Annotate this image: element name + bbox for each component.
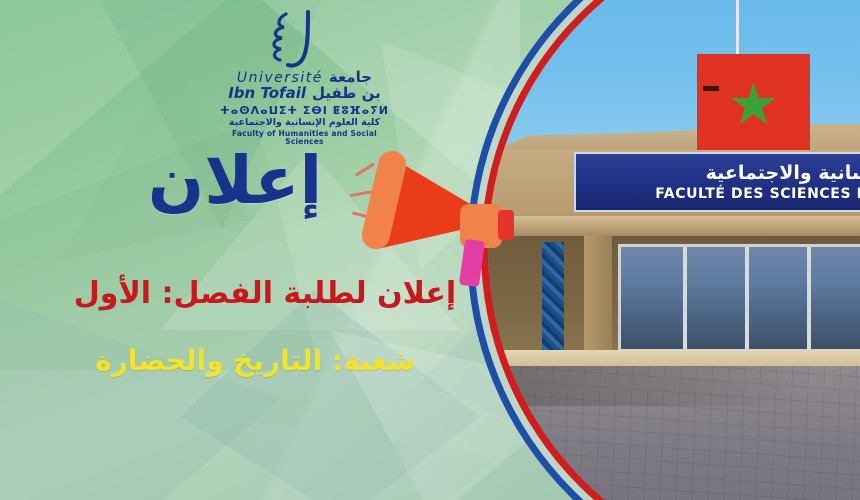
logo-arabic-faculty: كلية العلوم الإنسانية والاجتماعية [212,118,397,128]
megaphone-cap [498,210,514,240]
signboard-french-text: FACULTÉ DES SCIENCES HUMAINES ET SOCIALE… [655,186,860,202]
door-mullion [745,247,749,349]
signboard-arabic-text: كلية العلوم الإنسانية والاجتماعية [706,162,860,184]
logo-tifinagh-text: ⵜⴰⵙⴷⴰⵡⵉⵜ ⵉⴱⵏ ⵟⵓⴼⴰⵢⵍ [212,105,397,117]
logo-arabic-name: بن طفيل [312,86,381,102]
building-signboard: كلية العلوم الإنسانية والاجتماعية FACULT… [574,152,860,212]
entrance-glass-doors [618,244,860,352]
logo-calligraphy-icon [212,8,397,70]
announcement-subtitle: إعلان لطلبة الفصل: الأول [50,276,480,311]
logo-french-name: Ibn Tofail [228,86,306,102]
megaphone-icon [352,148,502,288]
ground-shadow [488,366,808,406]
announcement-poster: ★ ★ كلية العلوم الإنسانية والاجتماعية FA… [0,0,860,500]
door-mullion [683,247,687,349]
flag-pole [736,0,739,62]
mosaic-tile-column [542,242,564,354]
photo-circle: ★ ★ كلية العلوم الإنسانية والاجتماعية FA… [467,0,860,500]
announcement-department: شعبة: التاريخ والحضارة [50,344,460,377]
faculty-building-photo: ★ ★ كلية العلوم الإنسانية والاجتماعية FA… [488,0,860,500]
page-title: إعلان [110,142,360,219]
building-canopy [488,216,860,236]
facade-star-icon: ★ [728,75,780,133]
building-pillar [584,236,612,356]
facade-vent [703,86,719,91]
university-logo: Université جامعة Ibn Tofail بن طفيل ⵜⴰⵙⴷ… [212,8,397,146]
door-mullion [807,247,811,349]
sound-wave-line [355,162,375,176]
facade-flag-panel: ★ [697,54,810,150]
